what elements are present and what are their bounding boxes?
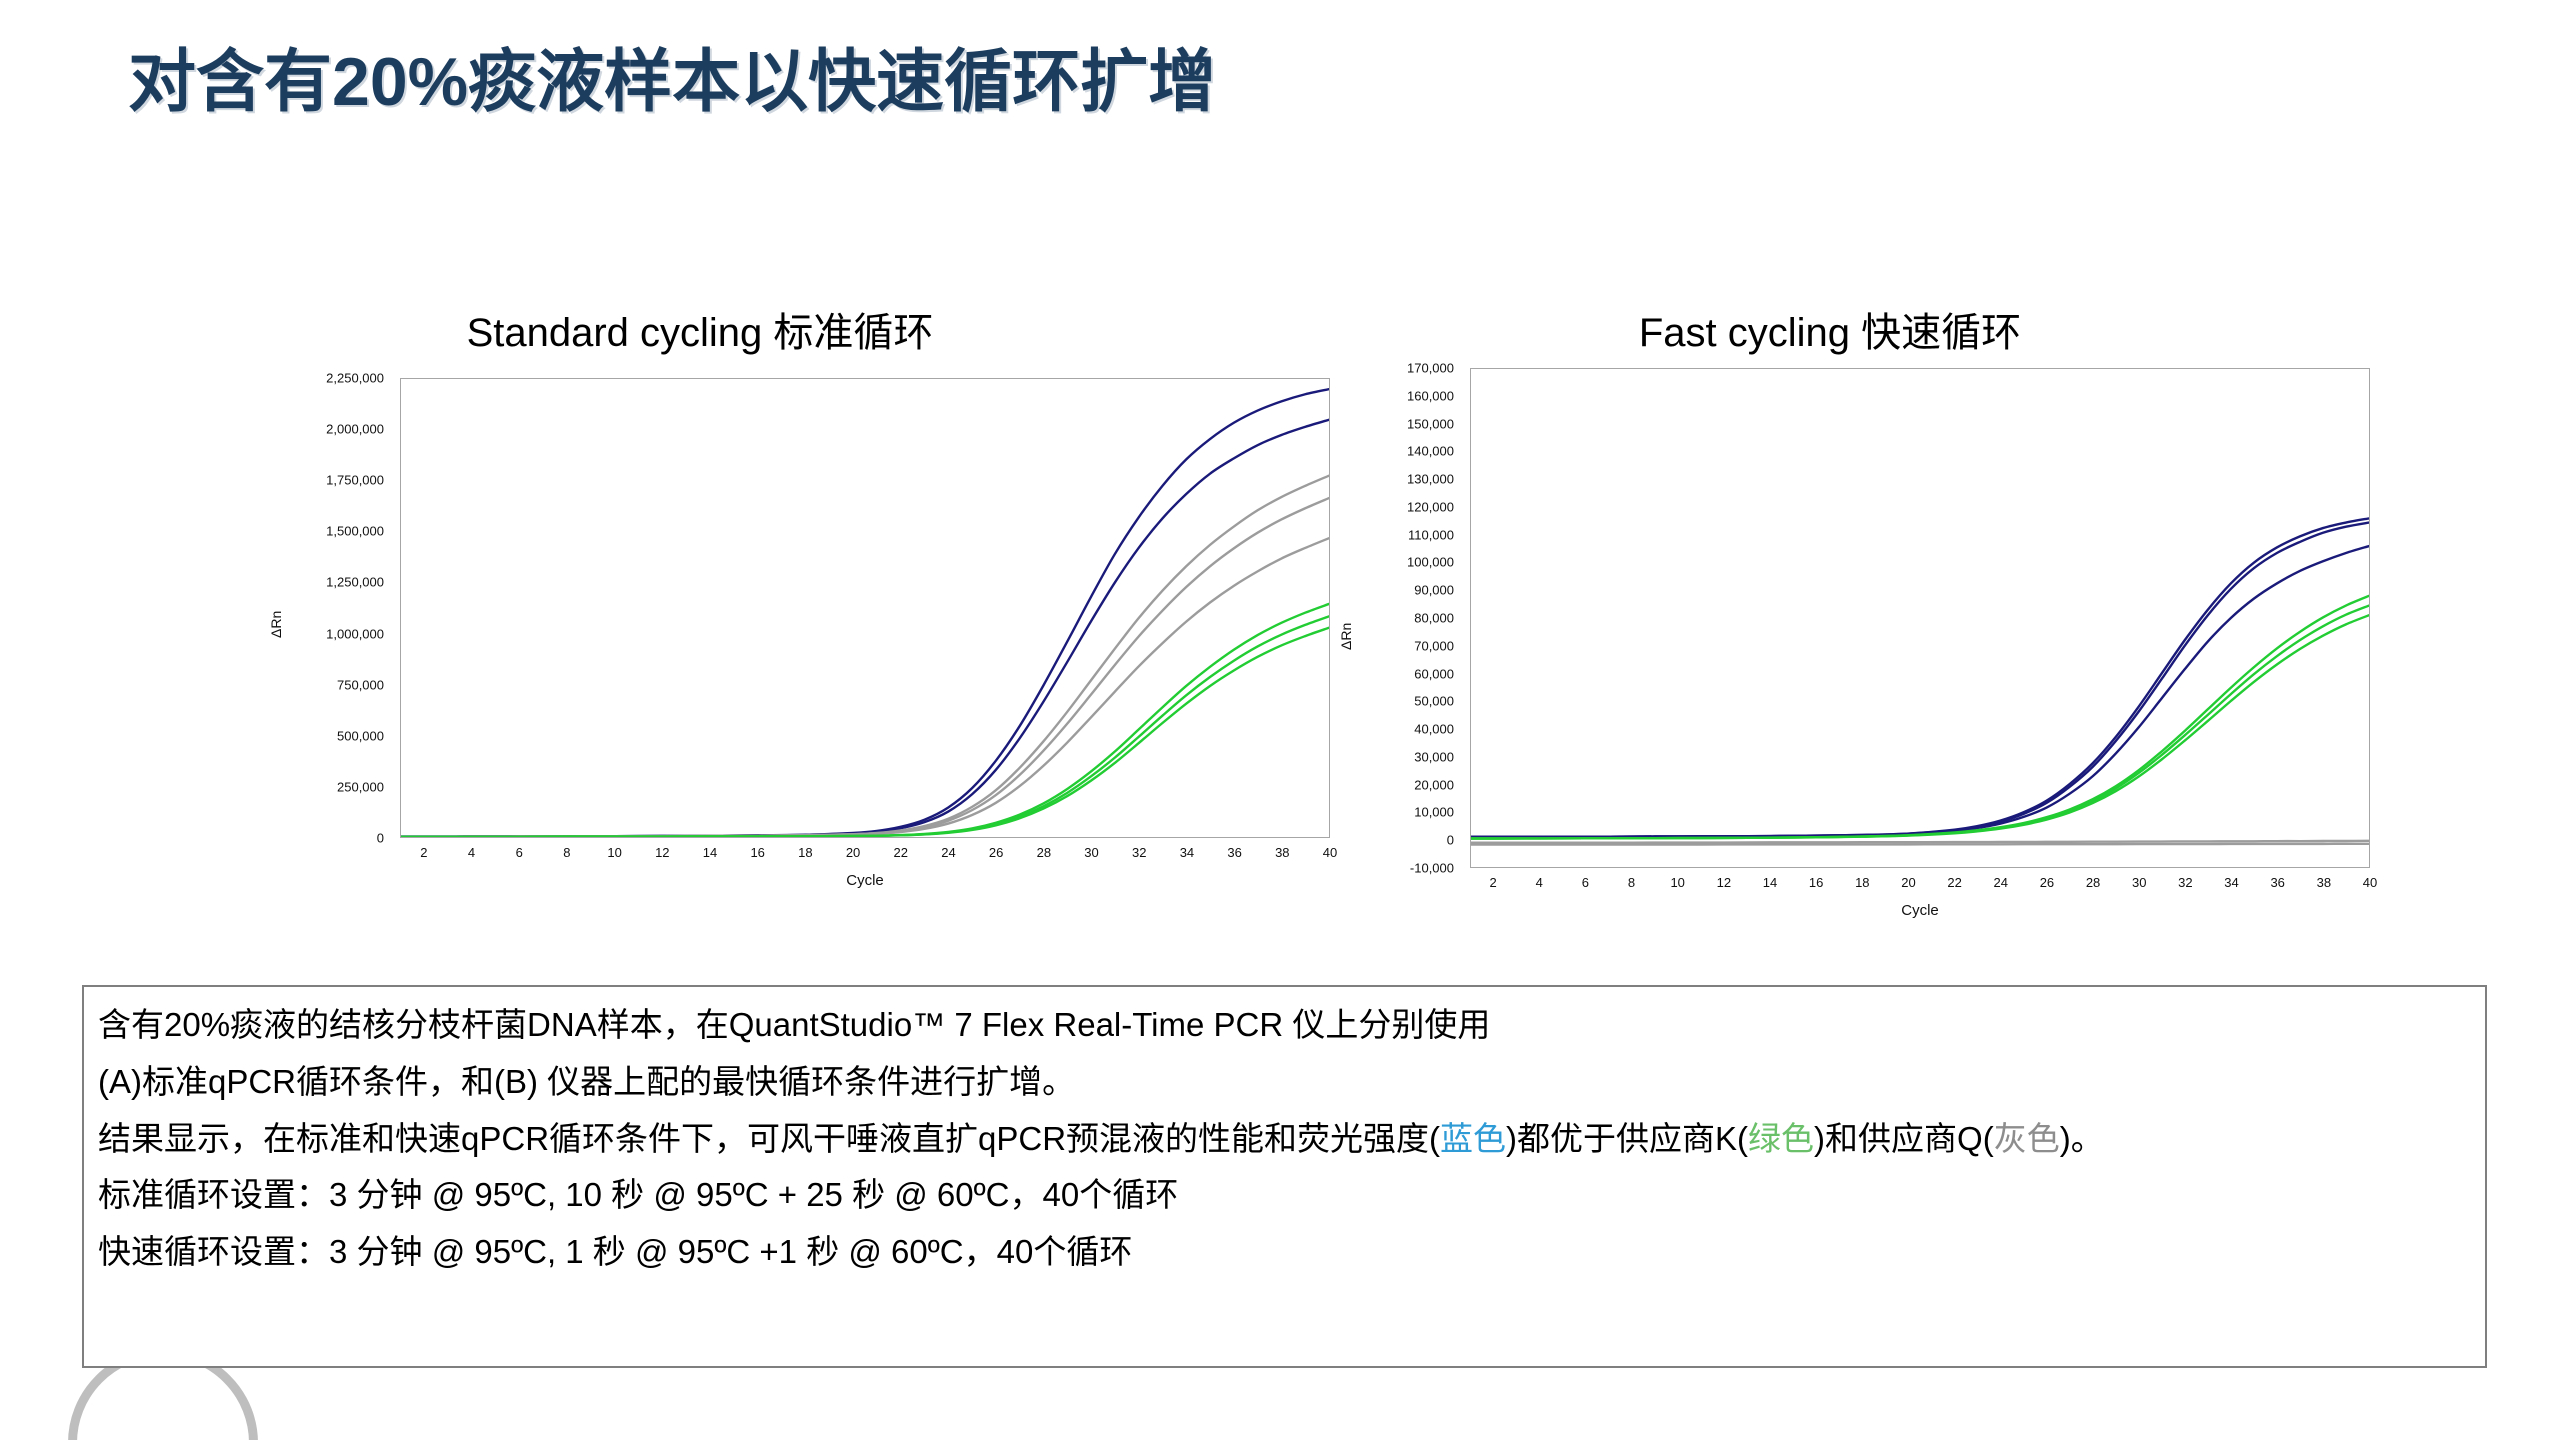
y-tick-label: 20,000 xyxy=(1340,778,1462,791)
slide-root: 对含有20%痰液样本以快速循环扩增 Standard cycling 标准循环 … xyxy=(0,0,2559,1440)
chart-fast: -10,000010,00020,00030,00040,00050,00060… xyxy=(1340,372,2460,912)
y-axis-label-standard: ΔRn xyxy=(268,578,284,638)
chart-panel-standard: Standard cycling 标准循环 0250,000500,000750… xyxy=(260,300,1340,920)
y-tick-label: 170,000 xyxy=(1340,362,1462,375)
x-tick-label: 14 xyxy=(1763,876,1777,889)
caption-line-2: (A)标准qPCR循环条件，和(B) 仪器上配的最快循环条件进行扩增。 xyxy=(98,1054,2471,1111)
curve-line xyxy=(1471,523,2369,837)
curve-line xyxy=(401,476,1329,837)
curve-line xyxy=(401,420,1329,837)
y-tick-label: 100,000 xyxy=(1340,556,1462,569)
y-tick-label: 40,000 xyxy=(1340,723,1462,736)
caption-line-5: 快速循环设置：3 分钟 @ 95ºC, 1 秒 @ 95ºC +1 秒 @ 60… xyxy=(98,1224,2471,1281)
x-tick-label: 16 xyxy=(1809,876,1823,889)
y-tick-label: -10,000 xyxy=(1340,862,1462,875)
x-tick-label: 28 xyxy=(2086,876,2100,889)
y-tick-label: 50,000 xyxy=(1340,695,1462,708)
x-axis-label-standard: Cycle xyxy=(400,872,1330,889)
x-tick-label: 40 xyxy=(2363,876,2377,889)
curve-line xyxy=(401,389,1329,836)
x-tick-label: 30 xyxy=(2132,876,2146,889)
curve-line xyxy=(1471,596,2369,839)
chart-panel-fast: Fast cycling 快速循环 -10,000010,00020,00030… xyxy=(1340,300,2460,920)
curve-line xyxy=(401,616,1329,836)
y-tick-label: 2,250,000 xyxy=(260,372,392,385)
curve-line xyxy=(1471,844,2369,845)
x-tick-label: 36 xyxy=(1227,846,1241,859)
curve-line xyxy=(1471,518,2369,836)
x-tick-label: 22 xyxy=(1947,876,1961,889)
x-tick-label: 18 xyxy=(798,846,812,859)
caption-line-3: 结果显示，在标准和快速qPCR循环条件下，可风干唾液直扩qPCR预混液的性能和荧… xyxy=(98,1111,2471,1168)
caption-line-3-part-a: 结果显示，在标准和快速qPCR循环条件下，可风干唾液直扩qPCR预混液的性能和荧… xyxy=(98,1120,1440,1157)
caption-line-1: 含有20%痰液的结核分枝杆菌DNA样本，在QuantStudio™ 7 Flex… xyxy=(98,997,2471,1054)
x-tick-label: 24 xyxy=(1994,876,2008,889)
curve-line xyxy=(1471,606,2369,839)
y-axis-label-fast: ΔRn xyxy=(1338,590,1354,650)
x-tick-label: 26 xyxy=(2040,876,2054,889)
curve-line xyxy=(401,628,1329,837)
x-tick-label: 4 xyxy=(1536,876,1543,889)
x-tick-label: 14 xyxy=(703,846,717,859)
y-tick-label: 250,000 xyxy=(260,780,392,793)
x-tick-label: 34 xyxy=(1180,846,1194,859)
y-tick-label: 140,000 xyxy=(1340,445,1462,458)
x-tick-label: 18 xyxy=(1855,876,1869,889)
x-tick-label: 38 xyxy=(1275,846,1289,859)
y-tick-label: 1,750,000 xyxy=(260,474,392,487)
curve-line xyxy=(401,498,1329,837)
x-tick-label: 4 xyxy=(468,846,475,859)
caption-line-3-part-b: )都优于供应商K( xyxy=(1506,1120,1748,1157)
x-tick-label: 32 xyxy=(2178,876,2192,889)
curve-line xyxy=(401,604,1329,837)
y-tick-label: 2,000,000 xyxy=(260,423,392,436)
caption-line-3-part-d: )。 xyxy=(2060,1120,2104,1157)
y-tick-label: 500,000 xyxy=(260,729,392,742)
caption-color-gray: 灰色 xyxy=(1994,1120,2060,1157)
caption-line-3-part-c: )和供应商Q( xyxy=(1814,1120,1994,1157)
curve-line xyxy=(1471,841,2369,843)
x-tick-label: 20 xyxy=(846,846,860,859)
plot-area-fast xyxy=(1470,368,2370,868)
x-tick-label: 16 xyxy=(750,846,764,859)
curves-fast xyxy=(1471,369,2369,867)
x-tick-label: 2 xyxy=(1489,876,1496,889)
x-tick-label: 12 xyxy=(1717,876,1731,889)
x-tick-label: 38 xyxy=(2317,876,2331,889)
curves-standard xyxy=(401,379,1329,837)
y-tick-label: 130,000 xyxy=(1340,473,1462,486)
y-tick-label: 160,000 xyxy=(1340,389,1462,402)
y-tick-label: 750,000 xyxy=(260,678,392,691)
x-tick-label: 24 xyxy=(941,846,955,859)
y-tick-label: 120,000 xyxy=(1340,500,1462,513)
y-tick-label: 90,000 xyxy=(1340,584,1462,597)
chart-standard: 0250,000500,000750,0001,000,0001,250,000… xyxy=(260,372,1340,912)
x-tick-label: 10 xyxy=(607,846,621,859)
y-tick-label: 10,000 xyxy=(1340,806,1462,819)
x-tick-label: 8 xyxy=(563,846,570,859)
x-tick-label: 2 xyxy=(420,846,427,859)
x-axis-ticks-standard: 246810121416182022242628303234363840 xyxy=(400,846,1330,868)
caption-line-4: 标准循环设置：3 分钟 @ 95ºC, 10 秒 @ 95ºC + 25 秒 @… xyxy=(98,1167,2471,1224)
caption-color-green: 绿色 xyxy=(1748,1120,1814,1157)
x-tick-label: 10 xyxy=(1670,876,1684,889)
x-tick-label: 32 xyxy=(1132,846,1146,859)
plot-area-standard xyxy=(400,378,1330,838)
y-tick-label: 0 xyxy=(260,832,392,845)
y-tick-label: 110,000 xyxy=(1340,528,1462,541)
x-tick-label: 12 xyxy=(655,846,669,859)
y-tick-label: 0 xyxy=(1340,834,1462,847)
y-tick-label: 60,000 xyxy=(1340,667,1462,680)
x-axis-label-fast: Cycle xyxy=(1470,902,2370,919)
chart-title-standard: Standard cycling 标准循环 xyxy=(250,300,1150,358)
y-tick-label: 80,000 xyxy=(1340,612,1462,625)
y-tick-label: 30,000 xyxy=(1340,750,1462,763)
page-title: 对含有20%痰液样本以快速循环扩增 xyxy=(128,26,1216,125)
x-tick-label: 20 xyxy=(1901,876,1915,889)
y-tick-label: 70,000 xyxy=(1340,639,1462,652)
x-tick-label: 6 xyxy=(1582,876,1589,889)
caption-color-blue: 蓝色 xyxy=(1440,1120,1506,1157)
y-tick-label: 1,500,000 xyxy=(260,525,392,538)
x-tick-label: 8 xyxy=(1628,876,1635,889)
y-axis-ticks-fast: -10,000010,00020,00030,00040,00050,00060… xyxy=(1340,372,1462,872)
y-tick-label: 150,000 xyxy=(1340,417,1462,430)
x-axis-ticks-fast: 246810121416182022242628303234363840 xyxy=(1470,876,2370,898)
x-tick-label: 30 xyxy=(1084,846,1098,859)
x-tick-label: 34 xyxy=(2224,876,2238,889)
chart-title-fast: Fast cycling 快速循环 xyxy=(1380,300,2280,358)
x-tick-label: 6 xyxy=(516,846,523,859)
curve-line xyxy=(1471,615,2369,838)
x-tick-label: 36 xyxy=(2270,876,2284,889)
x-tick-label: 40 xyxy=(1323,846,1337,859)
x-tick-label: 26 xyxy=(989,846,1003,859)
caption-box: 含有20%痰液的结核分枝杆菌DNA样本，在QuantStudio™ 7 Flex… xyxy=(82,985,2487,1368)
x-tick-label: 28 xyxy=(1037,846,1051,859)
x-tick-label: 22 xyxy=(894,846,908,859)
